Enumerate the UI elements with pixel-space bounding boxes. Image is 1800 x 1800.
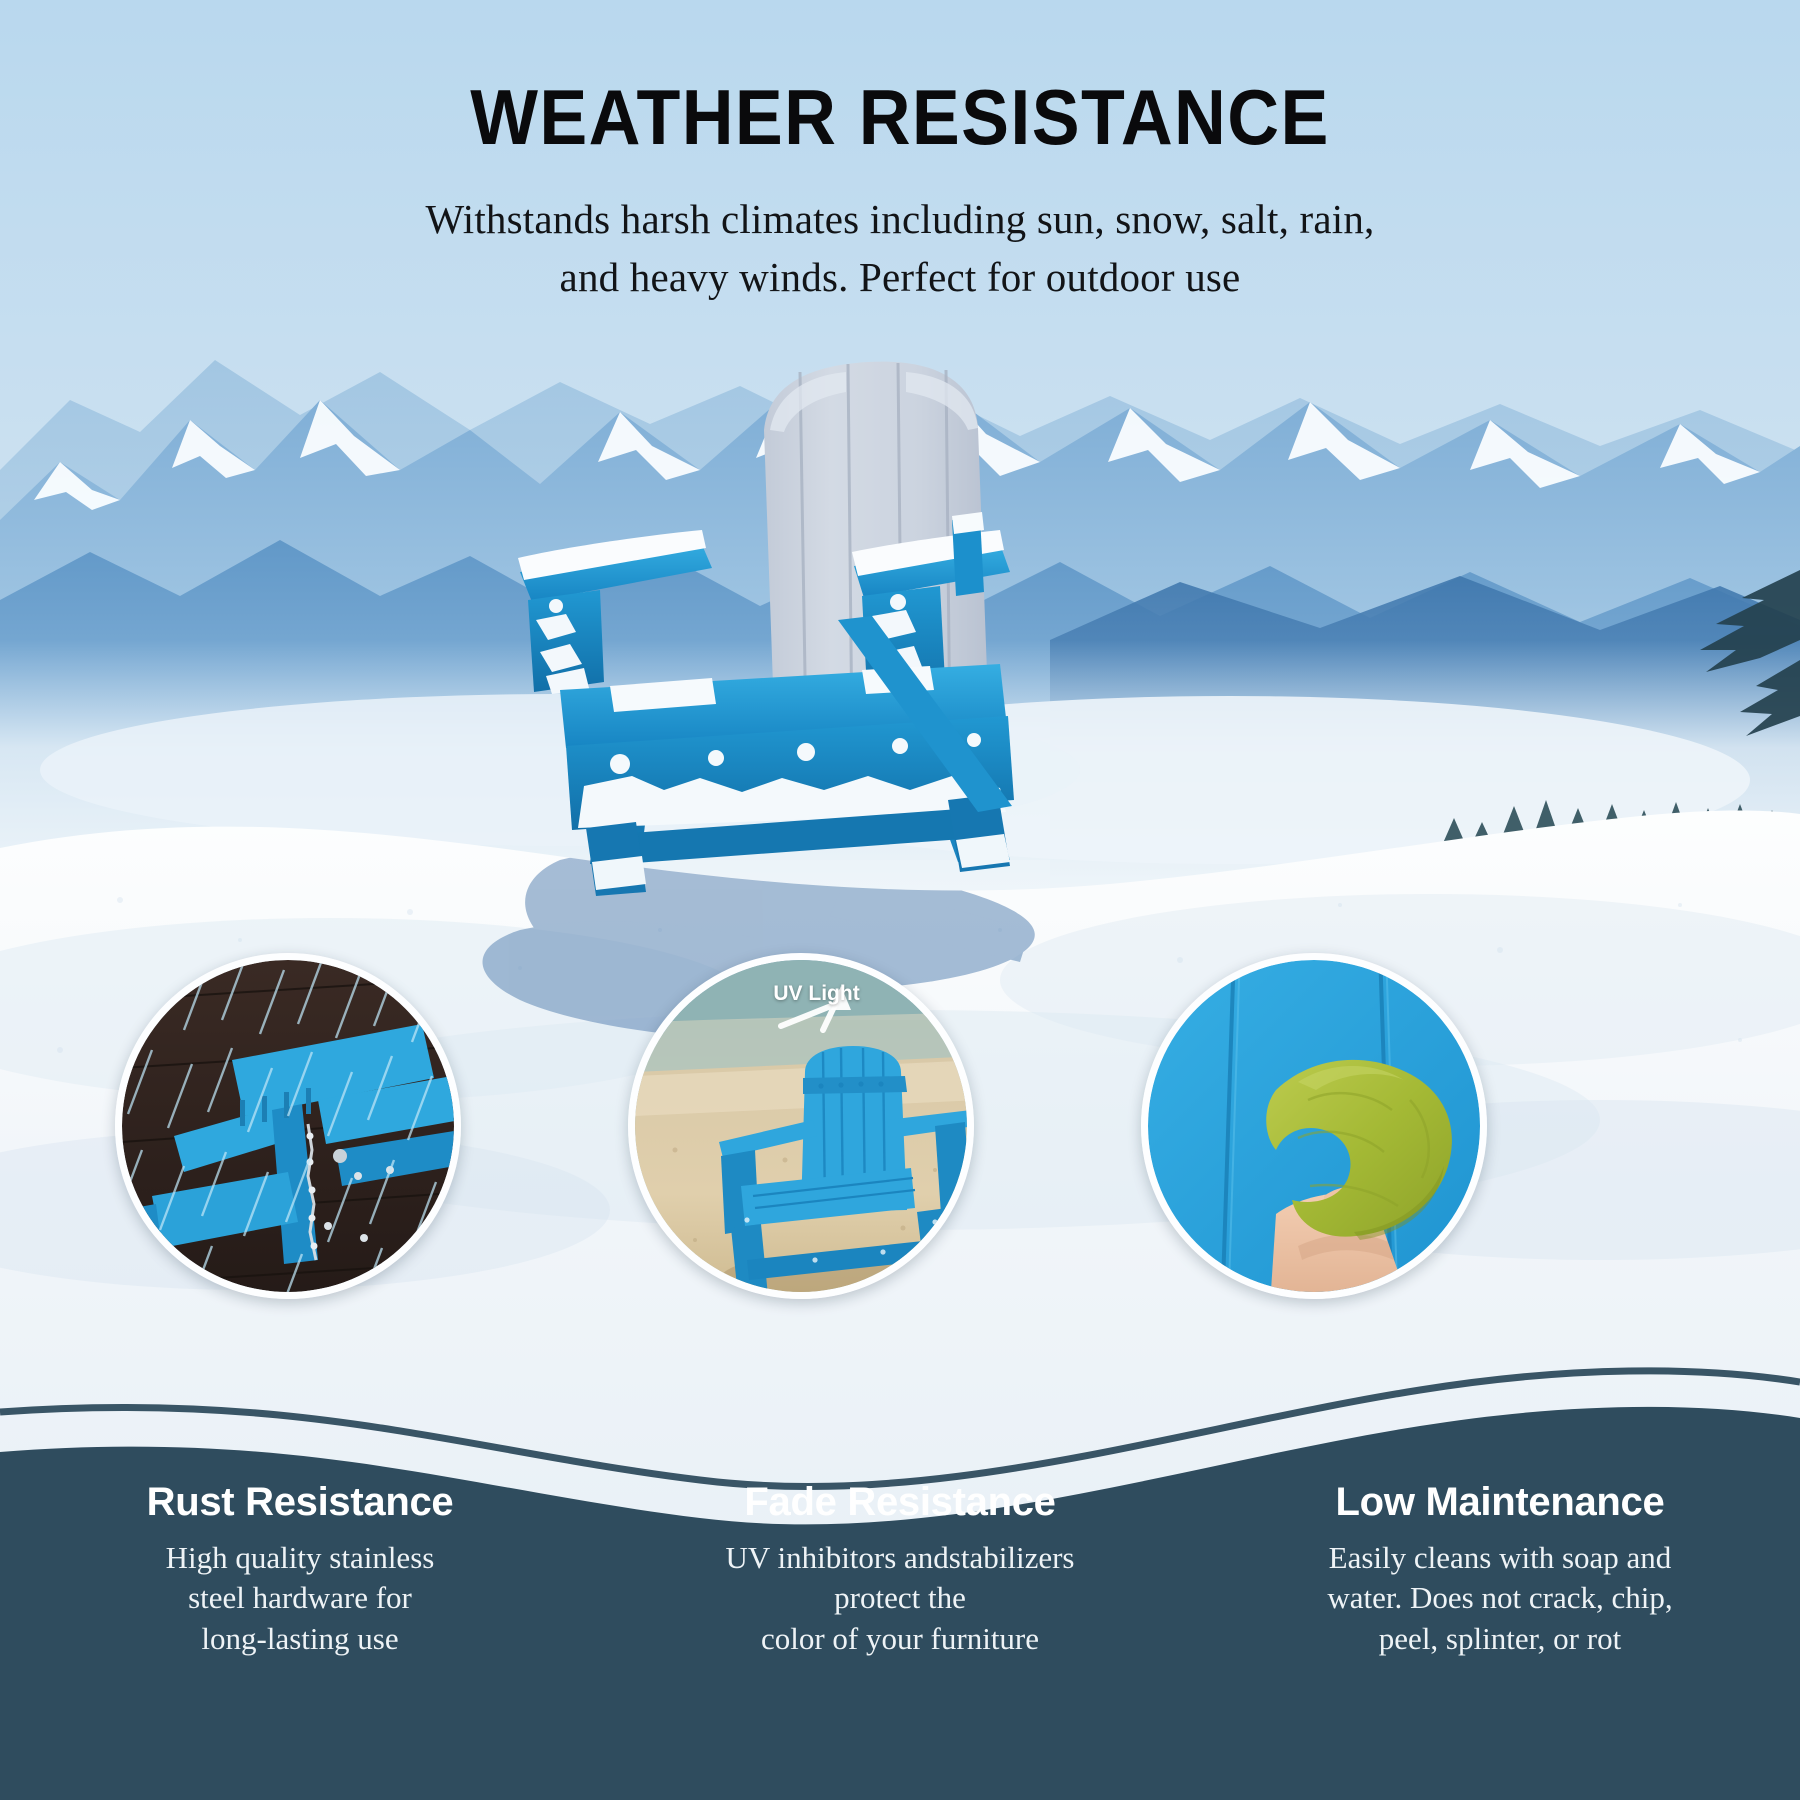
feature-body-low-maintenance: Easily cleans with soap and water. Does … — [1222, 1538, 1778, 1659]
feature-body-line-1: Easily cleans with soap and — [1222, 1538, 1778, 1578]
feature-body-line-2: protect the — [622, 1578, 1178, 1618]
uv-light-label: UV Light — [773, 982, 859, 1006]
feature-body-line-3: peel, splinter, or rot — [1222, 1619, 1778, 1659]
feature-caption-rust-resistance: Rust Resistance High quality stainless s… — [0, 1480, 600, 1659]
feature-body-line-2: water. Does not crack, chip, — [1222, 1578, 1778, 1618]
header-block: WEATHER RESISTANCE Withstands harsh clim… — [0, 78, 1800, 306]
feature-body-fade-resistance: UV inhibitors andstabilizers protect the… — [622, 1538, 1178, 1659]
feature-body-line-1: High quality stainless — [22, 1538, 578, 1578]
feature-image-rust-resistance — [115, 953, 461, 1299]
feature-caption-low-maintenance: Low Maintenance Easily cleans with soap … — [1200, 1480, 1800, 1659]
page-title: WEATHER RESISTANCE — [72, 78, 1728, 156]
feature-body-line-3: long-lasting use — [22, 1619, 578, 1659]
feature-body-line-3: color of your furniture — [622, 1619, 1178, 1659]
feature-title-fade-resistance: Fade Resistance — [622, 1480, 1178, 1524]
infographic-poster: UV Light — [0, 0, 1800, 1800]
feature-title-low-maintenance: Low Maintenance — [1222, 1480, 1778, 1524]
feature-body-line-2: steel hardware for — [22, 1578, 578, 1618]
feature-caption-fade-resistance: Fade Resistance UV inhibitors andstabili… — [600, 1480, 1200, 1659]
feature-image-low-maintenance — [1141, 953, 1487, 1299]
feature-captions: Rust Resistance High quality stainless s… — [0, 1480, 1800, 1659]
feature-body-line-1: UV inhibitors andstabilizers — [622, 1538, 1178, 1578]
feature-body-rust-resistance: High quality stainless steel hardware fo… — [22, 1538, 578, 1659]
feature-title-rust-resistance: Rust Resistance — [22, 1480, 578, 1524]
page-subtitle-line-2: and heavy winds. Perfect for outdoor use — [0, 248, 1800, 306]
feature-image-fade-resistance: UV Light — [628, 953, 974, 1299]
page-subtitle-line-1: Withstands harsh climates including sun,… — [0, 190, 1800, 248]
page-subtitle: Withstands harsh climates including sun,… — [0, 190, 1800, 306]
